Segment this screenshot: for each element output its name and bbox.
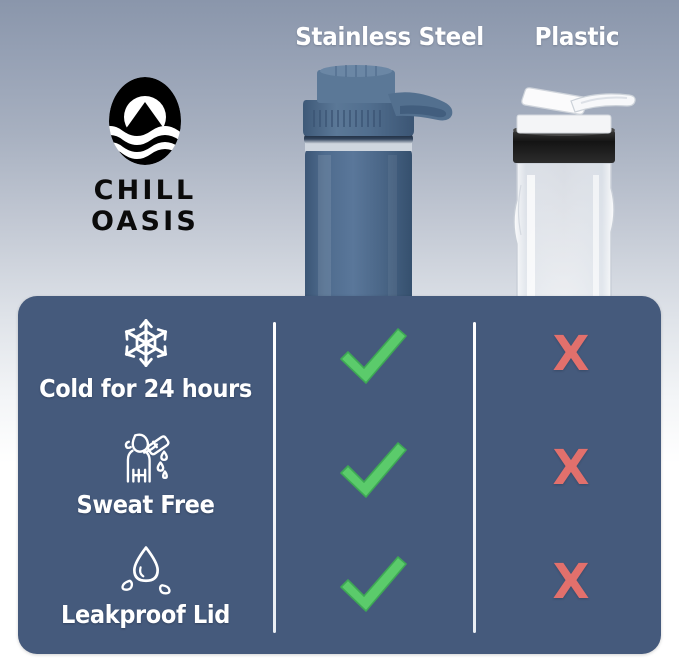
cross-icon: X — [516, 558, 626, 606]
plastic-mark-cold: X — [516, 330, 626, 378]
feature-label-leakproof: Leakproof Lid — [31, 600, 261, 629]
column-divider-2 — [473, 322, 476, 633]
column-header-plastic: Plastic — [535, 22, 620, 51]
plastic-mark-sweat: X — [516, 444, 626, 492]
column-divider-1 — [273, 322, 276, 633]
snowflake-icon — [119, 316, 173, 370]
feature-label-cold: Cold for 24 hours — [31, 374, 261, 403]
steel-mark-leakproof — [318, 554, 428, 621]
brand-name-text: CHILL OASIS — [45, 175, 245, 237]
check-icon — [335, 554, 411, 616]
comparison-panel: Cold for 24 hours — [18, 296, 661, 654]
feature-label-sweat: Sweat Free — [31, 490, 261, 519]
plastic-mark-leakproof: X — [516, 558, 626, 606]
brand-logo: CHILL OASIS — [45, 75, 245, 237]
steel-mark-cold — [318, 326, 428, 393]
oasis-mountain-wave-logo-icon — [100, 75, 190, 167]
sweating-person-icon — [117, 430, 175, 486]
feature-row-sweat: Sweat Free — [18, 430, 273, 519]
column-header-stainless-steel: Stainless Steel — [295, 22, 484, 51]
feature-row-cold: Cold for 24 hours — [18, 316, 273, 403]
cross-icon: X — [516, 444, 626, 492]
check-icon — [335, 326, 411, 388]
check-icon — [335, 440, 411, 502]
cross-icon: X — [516, 330, 626, 378]
infographic-canvas: Stainless Steel Plastic CHILL OASIS — [0, 0, 679, 662]
feature-row-leakproof: Leakproof Lid — [18, 544, 273, 629]
water-droplet-icon — [117, 544, 175, 596]
steel-mark-sweat — [318, 440, 428, 507]
